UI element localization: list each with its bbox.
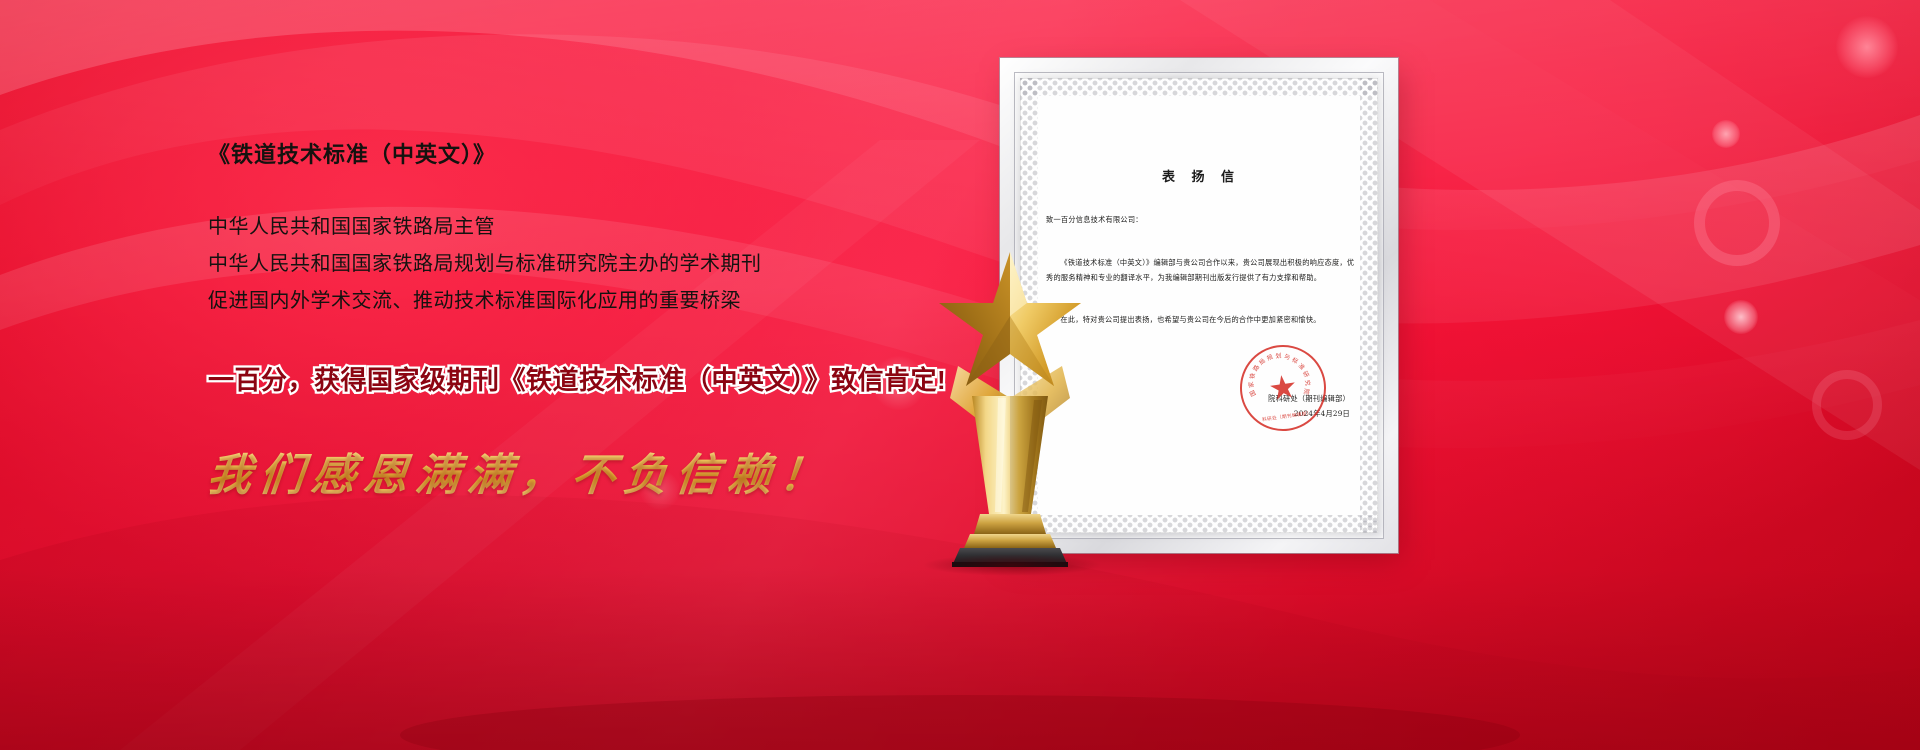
journal-description-line-1: 中华人民共和国国家铁路局主管 (208, 209, 998, 246)
certificate-lace-right (1360, 78, 1378, 533)
journal-description-list: 中华人民共和国国家铁路局主管 中华人民共和国国家铁路局规划与标准研究院主办的学术… (208, 209, 998, 320)
certificate-heading: 表 扬 信 (1046, 166, 1356, 185)
gold-star-trophy (900, 248, 1120, 568)
promo-copy-block: 《铁道技术标准（中英文）》 中华人民共和国国家铁路局主管 中华人民共和国国家铁路… (208, 140, 998, 503)
certificate-salutation: 致一百分信息技术有限公司： (1046, 213, 1356, 228)
trophy-ground-shadow (922, 554, 1102, 576)
journal-description-line-2: 中华人民共和国国家铁路局规划与标准研究院主办的学术期刊 (208, 246, 998, 283)
gratitude-calligraphy: 我们感恩满满，不负信赖！ (205, 439, 1002, 503)
journal-title: 《铁道技术标准（中英文）》 (208, 140, 998, 171)
award-headline: 一百分，获得国家级期刊《铁道技术标准（中英文）》致信肯定! (208, 360, 998, 397)
background-bottom-fade (0, 570, 1920, 750)
journal-description-line-3: 促进国内外学术交流、推动技术标准国际化应用的重要桥梁 (208, 283, 998, 320)
trophy-illustration (900, 248, 1120, 568)
certificate-lace-top (1020, 78, 1378, 96)
official-seal-stamp: 国家铁路局规划与标准研究院 科研处（期刊编辑部） (1234, 339, 1331, 436)
